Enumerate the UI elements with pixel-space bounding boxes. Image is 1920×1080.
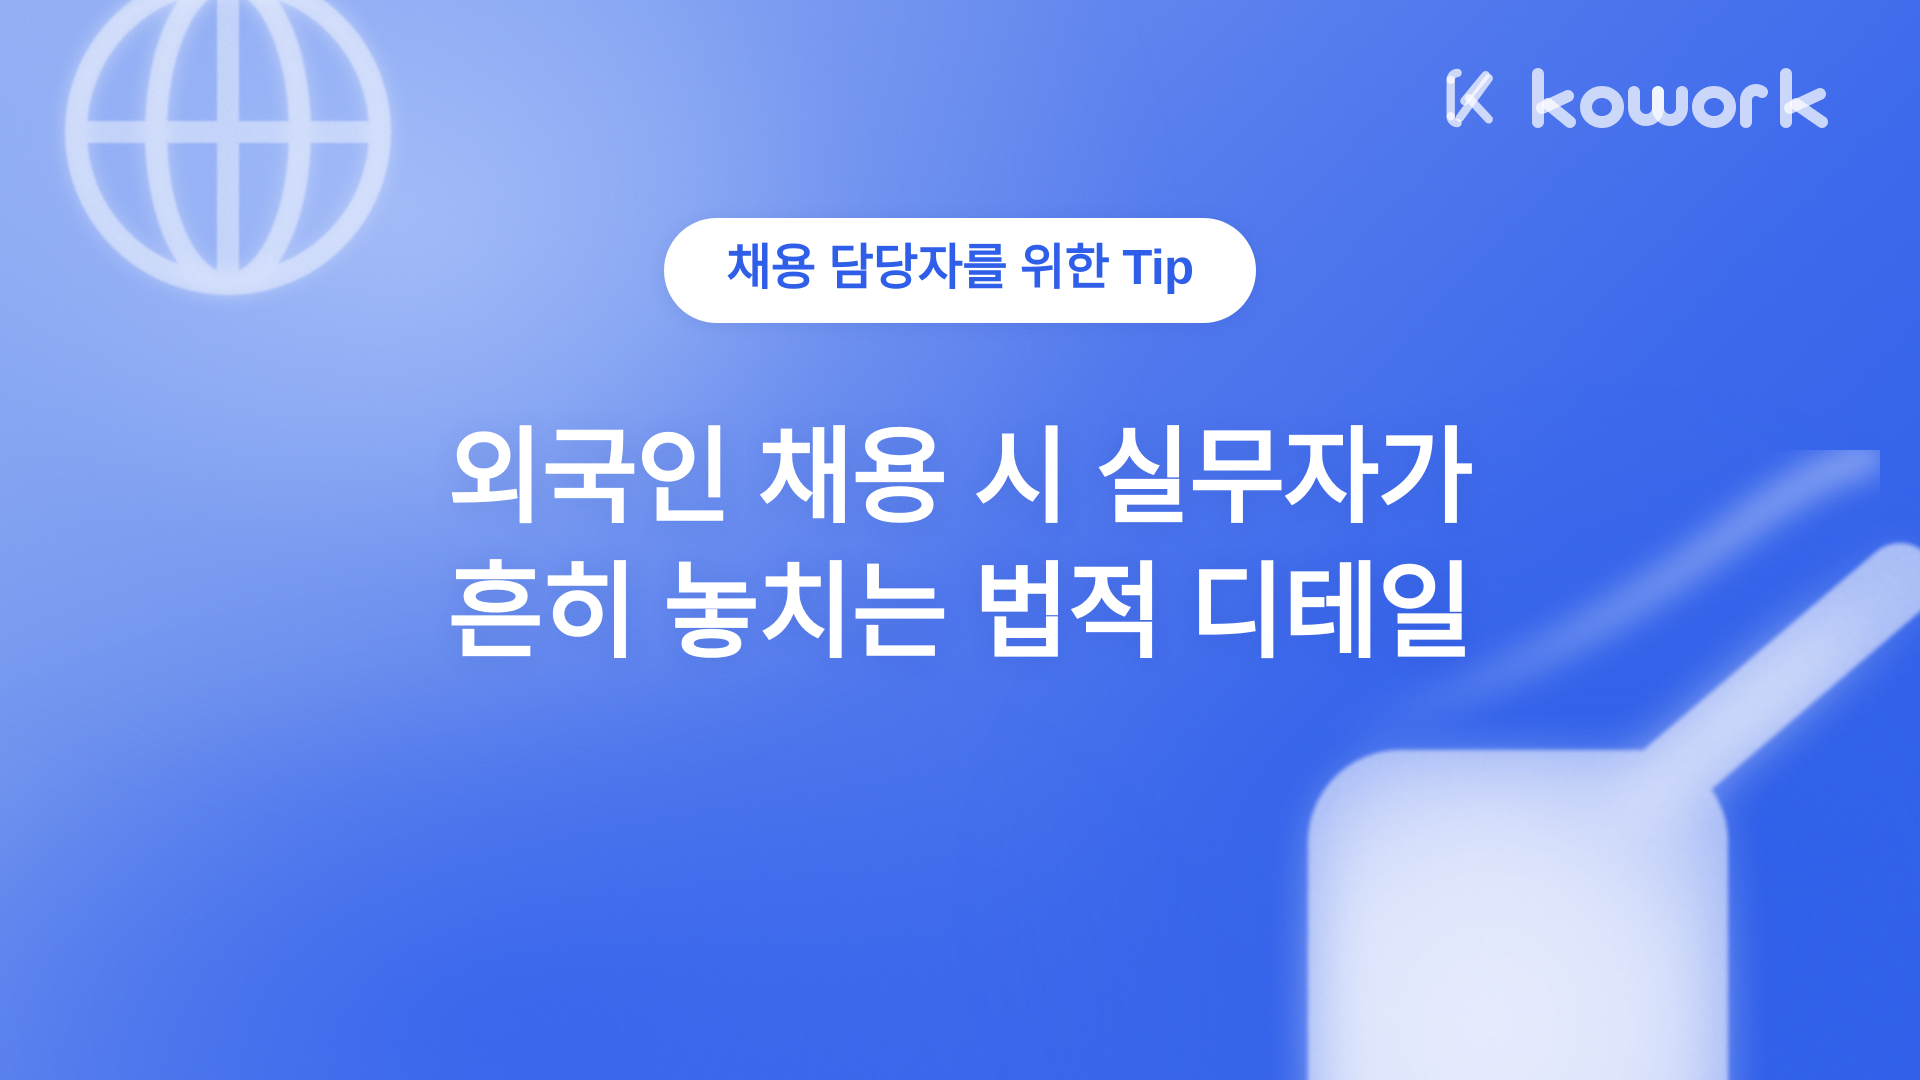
hero-content: 채용 담당자를 위한 Tip 외국인 채용 시 실무자가 흔히 놓치는 법적 디…	[0, 0, 1920, 1080]
tip-badge: 채용 담당자를 위한 Tip	[664, 218, 1255, 323]
headline-line-1: 외국인 채용 시 실무자가	[448, 411, 1472, 546]
page-title: 외국인 채용 시 실무자가 흔히 놓치는 법적 디테일	[448, 411, 1472, 681]
headline-line-2: 흔히 놓치는 법적 디테일	[448, 546, 1472, 681]
tip-badge-label: 채용 담당자를 위한 Tip	[726, 244, 1193, 293]
hero-card: 채용 담당자를 위한 Tip 외국인 채용 시 실무자가 흔히 놓치는 법적 디…	[0, 0, 1920, 1080]
